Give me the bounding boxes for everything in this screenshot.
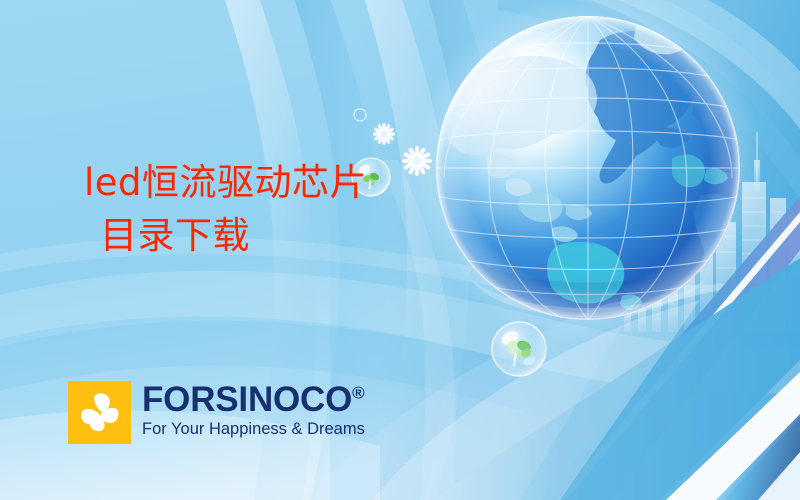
- logo-wordmark: FORSINOCO®: [142, 382, 365, 417]
- logo-mark-icon: [68, 381, 131, 444]
- logo-wordmark-text: FORSINOCO: [142, 380, 352, 419]
- company-logo: FORSINOCO® For Your Happiness & Dreams: [68, 381, 365, 444]
- promo-banner: led恒流驱动芯片 目录下载 FORSINOCO® For Your Happi…: [0, 0, 800, 500]
- bubble-pinwheel-upper: [352, 158, 390, 196]
- logo-tagline: For Your Happiness & Dreams: [142, 421, 365, 438]
- registered-trademark-icon: ®: [352, 383, 365, 402]
- logo-text-block: FORSINOCO® For Your Happiness & Dreams: [142, 381, 365, 438]
